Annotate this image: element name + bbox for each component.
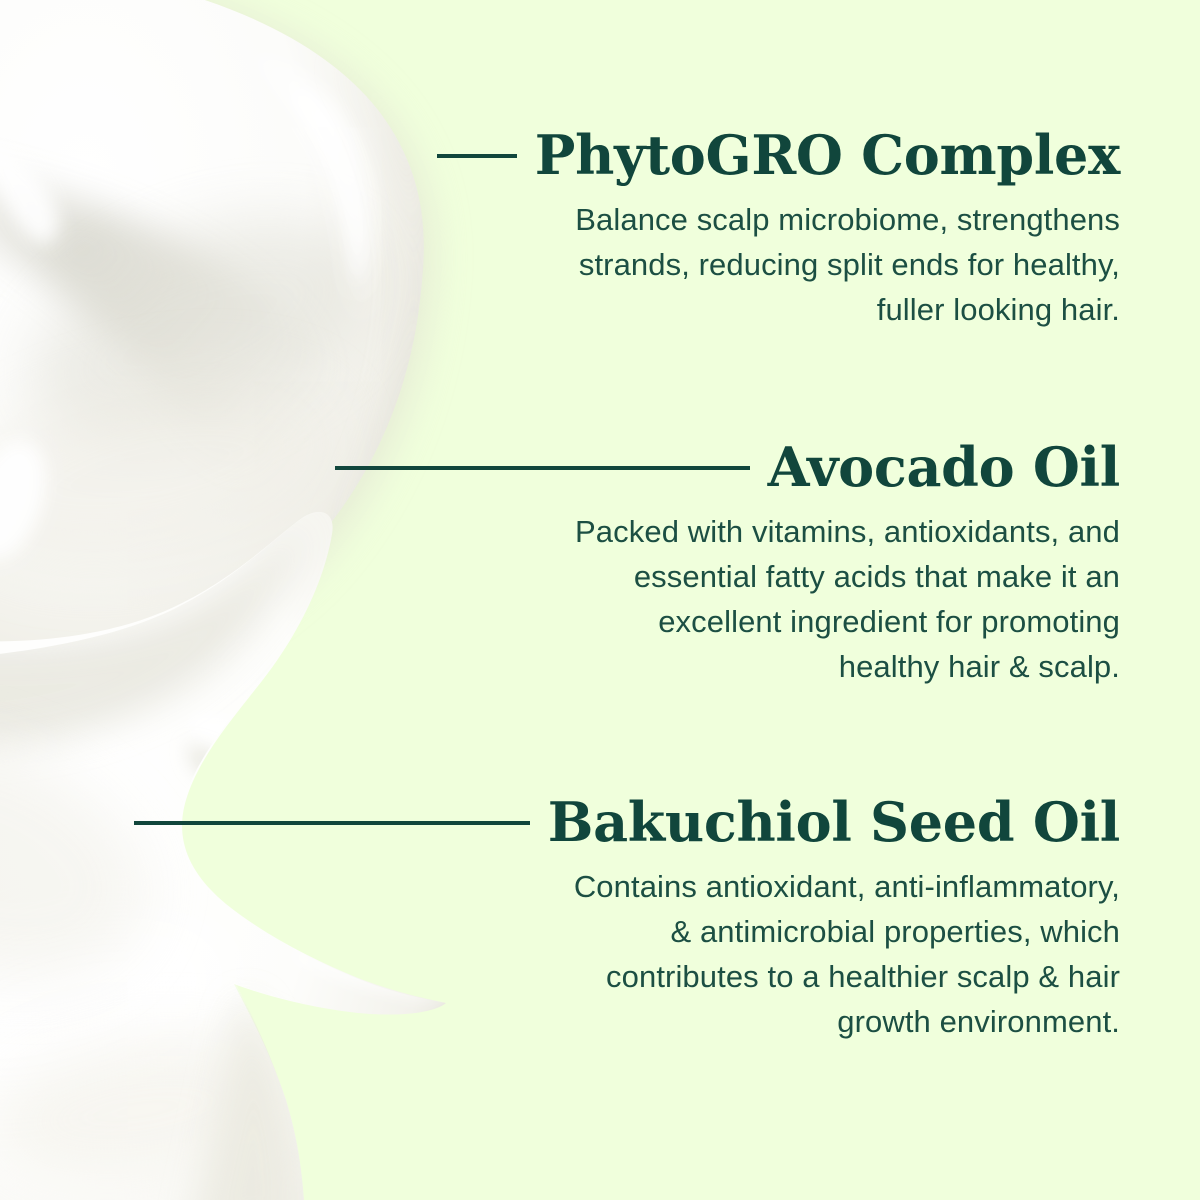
description-line: essential fatty acids that make it an <box>0 554 1120 599</box>
ingredient-1-title: PhytoGRO Complex <box>535 128 1120 183</box>
ingredient-callout-graphic: PhytoGRO Complex Balance scalp microbiom… <box>0 0 1200 1200</box>
ingredient-callout-3: Bakuchiol Seed Oil Contains antioxidant,… <box>0 795 1120 1044</box>
description-line: Balance scalp microbiome, strengthens <box>0 197 1120 242</box>
leader-line-3 <box>134 821 530 825</box>
ingredient-1-description: Balance scalp microbiome, strengthens st… <box>0 197 1120 332</box>
ingredient-3-description: Contains antioxidant, anti-inflammatory,… <box>0 864 1120 1044</box>
ingredient-callout-1: PhytoGRO Complex Balance scalp microbiom… <box>0 128 1120 332</box>
callout-1-heading-row: PhytoGRO Complex <box>0 128 1120 183</box>
leader-line-1 <box>437 154 517 158</box>
ingredient-callout-2: Avocado Oil Packed with vitamins, antiox… <box>0 440 1120 689</box>
ingredient-3-title: Bakuchiol Seed Oil <box>548 795 1120 850</box>
callout-2-heading-row: Avocado Oil <box>0 440 1120 495</box>
description-line: excellent ingredient for promoting <box>0 599 1120 644</box>
description-line: strands, reducing split ends for healthy… <box>0 242 1120 287</box>
ingredient-2-title: Avocado Oil <box>768 440 1120 495</box>
description-line: fuller looking hair. <box>0 287 1120 332</box>
description-line: growth environment. <box>0 999 1120 1044</box>
callout-list: PhytoGRO Complex Balance scalp microbiom… <box>0 0 1200 1200</box>
description-line: & antimicrobial properties, which <box>0 909 1120 954</box>
ingredient-2-description: Packed with vitamins, antioxidants, and … <box>0 509 1120 689</box>
callout-3-heading-row: Bakuchiol Seed Oil <box>0 795 1120 850</box>
description-line: healthy hair & scalp. <box>0 644 1120 689</box>
description-line: Packed with vitamins, antioxidants, and <box>0 509 1120 554</box>
description-line: Contains antioxidant, anti-inflammatory, <box>0 864 1120 909</box>
leader-line-2 <box>335 466 750 470</box>
description-line: contributes to a healthier scalp & hair <box>0 954 1120 999</box>
